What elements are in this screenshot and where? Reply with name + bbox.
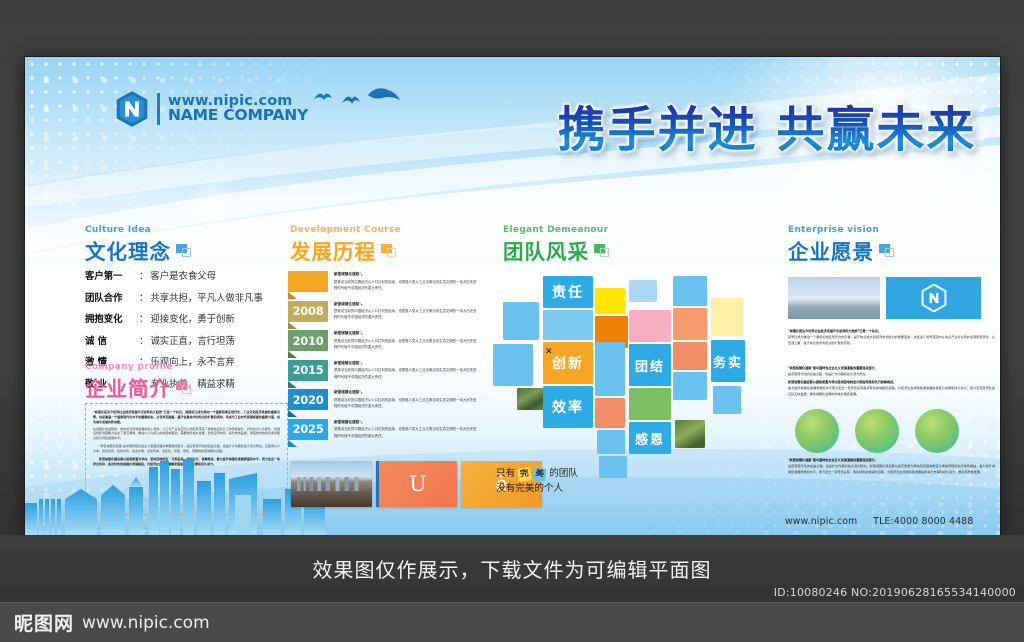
mosaic-word-tile: 效率 [543,386,593,428]
timeline-item[interactable]: 2025 .tl-item:nth-child(6) .tl-tab:after… [288,419,478,440]
mosaic-tile [673,372,707,400]
heading-square-icon [594,244,610,257]
heading-square-icon [176,381,192,394]
section-cn-vision-text: 企业愿景 [788,235,874,265]
heading-square-icon [381,244,397,257]
timeline-item[interactable]: 2010 .tl-item:nth-child(3) .tl-tab:after… [288,330,478,351]
mosaic-word-label: 创新 [552,353,584,373]
mosaic-tile [503,302,539,340]
team-heart-mosaic: 责任 创新 效率 团结 感恩 [503,276,779,481]
section-cn-team-text: 团队风采 [503,235,589,265]
mosaic-tile [595,342,625,396]
timeline-year-tab[interactable]: .tl-item:nth-child(1) .tl-tab:after{bord… [288,271,328,292]
list-item: 诚 信 ： 诚实正直，言行坦荡 [85,333,285,347]
section-heading-development: Development Course 发展历程 [290,225,401,265]
logo-divider [157,93,160,125]
culture-value: 客户是衣食父母 [150,268,216,282]
section-cn-culture-text: 文化理念 [85,235,171,265]
vision-circles [795,409,959,453]
mosaic-word-tile: 感恩 [629,422,671,454]
page-title: 携手并进 共赢未来 [537,99,997,161]
section-en-profile: Company profile [85,362,192,372]
timeline-body: 是推动当前的中国经济从人口红利的延续，也是推人类从工业文明迈向生态文明的一伟大历… [334,308,478,321]
section-cn-profile-text: 企业简介 [85,372,171,402]
section-cn-team: 团队风采 [503,235,610,265]
timeline-title: 新型城镇化道路"。 [334,302,478,307]
hexagon-n-logo-icon [115,90,149,128]
section-heading-profile: Company profile 企业简介 [85,362,192,402]
vision-paragraph-mid: 是实现现代化的必由之路，也是扩大内需的最大潜力所在。 [788,372,995,378]
timeline-year-tab[interactable]: 2015 .tl-item:nth-child(4) .tl-tab:after… [288,360,328,381]
team-caption-tile: 完 [517,467,532,482]
vision-circle [795,409,839,453]
team-photo-tile [675,420,705,448]
mosaic-tile [673,308,707,340]
logo-company-name: NAME COMPANY [168,108,308,124]
vision-circle [855,409,899,453]
timeline-body: 是推动当前的中国经济从人口红利的延续，也是推人类从工业文明迈向生态文明的一伟大历… [334,367,478,380]
city-skyline-silhouette-icon [25,443,325,535]
team-caption-pre: 只有 [496,467,515,482]
culture-separator: ： [139,311,148,325]
dot-pattern-top-left-icon [25,57,355,207]
timeline-title: 新型城镇化道路"。 [334,420,478,425]
asset-id-badge: ID:10080246 NO:20190628165534140000 [774,586,1016,599]
culture-separator: ： [139,268,148,282]
development-timeline: .tl-item:nth-child(1) .tl-tab:after{bord… [288,271,478,449]
timeline-year-tab[interactable]: 2020 .tl-item:nth-child(5) .tl-tab:after… [288,389,328,410]
mosaic-tile [711,298,743,336]
timeline-item[interactable]: .tl-item:nth-child(1) .tl-tab:after{bord… [288,271,478,292]
company-logo[interactable]: www.nipic.com NAME COMPANY [115,90,308,128]
footer-tel: TLE:4000 8000 4488 [873,516,973,527]
section-cn-profile: 企业简介 [85,372,192,402]
profile-paragraph: 在城镇化的进程中，城市成为区域发展的核心载体，人口与产业在空间上的集聚带来了规模… [93,427,280,442]
mosaic-tile [543,310,593,340]
culture-separator: ： [139,290,148,304]
culture-key: 诚 信 [85,333,137,347]
heading-square-icon [879,244,895,257]
mosaic-tile [673,342,707,370]
mosaic-tile [629,310,671,342]
vision-paragraph-top: 其早已成为推动一个国家和地区现代化的引擎，基于信息技术和经济成长能力的重要因素，… [788,335,995,346]
vision-paragraph-mid2-bold: 新型城镇化建设要以提高质量为导向坚持因地制宜分类指导规划先行统筹推进， [788,380,995,386]
flying-birds-icon [310,87,400,115]
section-heading-team: Elegant Demeanour 团队风采 [503,225,610,265]
team-caption-post: 的团队 [549,467,578,482]
list-item: 客户第一 ： 客户是衣食父母 [85,268,285,282]
timeline-item[interactable]: 2020 .tl-item:nth-child(5) .tl-tab:after… [288,389,478,410]
section-en-development: Development Course [290,225,401,235]
timeline-title: 新型城镇化道路"。 [334,361,478,366]
team-caption: 只有 完 美 的团队 没有完美的个人 [496,467,578,497]
timeline-year: 2025 [293,422,324,436]
lens-flare-decoration [183,180,243,240]
vision-paragraph-bottom-bold: "新型城镇化道路"是中国特色社会主义发展道路的重要组成部分， [788,458,995,464]
vision-circle [915,409,959,453]
culture-key: 拥抱变化 [85,311,137,325]
vision-logo-box[interactable] [886,277,981,319]
section-cn-vision: 企业愿景 [788,235,895,265]
mosaic-word-tile: 责任 [543,276,593,308]
watermark-site-name: 昵图网 [14,609,74,636]
mosaic-word-tile: 务实 [711,340,745,382]
section-cn-development-text: 发展历程 [290,235,376,265]
timeline-title: 新型城镇化道路"。 [334,331,478,336]
mosaic-tile [493,344,533,386]
culture-value: 诚实正直，言行坦荡 [150,333,234,347]
mosaic-tile [599,456,627,478]
mosaic-word-label: 责任 [552,282,584,302]
mosaic-tile [595,288,625,314]
section-en-vision: Enterprise vision [788,225,895,235]
timeline-item[interactable]: 2015 .tl-item:nth-child(4) .tl-tab:after… [288,360,478,381]
team-caption-tile: 美 [532,467,546,481]
mosaic-word-tile: 团结 [629,344,671,386]
mosaic-tile [597,430,625,454]
list-item: 拥抱变化 ： 迎接变化，勇于创新 [85,311,285,325]
timeline-item[interactable]: 2008 .tl-item:nth-child(2) .tl-tab:after… [288,301,478,322]
timeline-body: 是推动当前的中国经济从人口红利的延续，也是推人类从工业文明迈向生态文明的一伟大历… [334,426,478,439]
timeline-title: 新型城镇化道路"。 [334,390,478,395]
section-en-culture: Culture Idea [85,225,192,235]
watermark-site-url: www.nipic.com [82,613,210,633]
mosaic-word-label: 团结 [635,356,665,375]
letter-u-tile[interactable]: U [376,461,457,507]
section-cn-culture: 文化理念 [85,235,192,265]
timeline-body: 是推动当前的中国经济从人口红利的延续，也是推人类从工业文明迈向生态文明的一伟大历… [334,397,478,410]
preview-caption: 效果图仅作展示，下载文件为可编辑平面图 [313,554,712,583]
timeline-year-tab[interactable]: 2025 .tl-item:nth-child(6) .tl-tab:after… [288,419,328,440]
culture-key: 客户第一 [85,268,137,282]
section-en-team: Elegant Demeanour [503,225,610,235]
vision-images [788,277,981,319]
culture-value: 迎接变化，勇于创新 [150,311,234,325]
hexagon-n-logo-icon [917,284,951,312]
profile-paragraph: "城镇化是当今世界社会经济发展不可逆转的大趋势"已是一个共识。城镇化已成为推动一… [93,410,280,425]
timeline-year: 2020 [293,393,324,407]
cityscape-photo[interactable] [291,461,372,507]
timeline-title: 新型城镇化道路"。 [334,272,478,277]
heading-square-icon [176,244,192,257]
poster-board: www.nipic.com NAME COMPANY 携手并进 共赢未来 Cul… [25,57,1000,535]
vision-paragraph-bottom: 是实现现代化的必由之路，也是扩大内需的最大潜力所在。新型城镇化建设要以提高质量为… [788,464,995,475]
team-photo-tile [517,388,545,410]
mosaic-tile [629,388,671,420]
timeline-body: 是推动当前的中国经济从人口红利的延续，也是推人类从工业文明迈向生态文明的一伟大历… [334,279,478,292]
culture-separator: ： [139,333,148,347]
vision-paragraph-mid2: 着力提升城镇化发展质量和水平努力走出一条符合实际各具特色的城镇化道路，为经济社会… [788,386,995,397]
mosaic-tile [673,276,707,306]
section-heading-vision: Enterprise vision 企业愿景 [788,225,895,265]
mosaic-tile [629,280,657,302]
mosaic-word-label: 务实 [713,352,743,371]
team-caption-tiles: 完 美 [518,468,546,481]
mosaic-tile [595,398,625,428]
letter-u-glyph: U [409,472,427,496]
site-watermark-bar: 昵图网 www.nipic.com [0,602,1024,642]
mouse-cursor-icon: ✕ [545,346,553,357]
footer-url: www.nipic.com [785,516,857,527]
footer-contact: www.nipic.com TLE:4000 8000 4488 [785,516,974,527]
timeline-year: 2015 [293,363,324,377]
list-item: 团队合作 ： 共享共担，平凡人做非凡事 [85,290,285,304]
mosaic-tile [713,386,741,414]
timeline-year: 2008 [293,304,324,318]
section-heading-culture: Culture Idea 文化理念 [85,225,192,265]
mosaic-word-label: 效率 [552,397,584,417]
team-caption-line2: 没有完美的个人 [496,482,578,497]
timeline-year-tab[interactable]: 2010 .tl-item:nth-child(3) .tl-tab:after… [288,330,328,351]
section-cn-development: 发展历程 [290,235,401,265]
timeline-year: 2010 [293,334,324,348]
poster-stage: www.nipic.com NAME COMPANY 携手并进 共赢未来 Cul… [0,0,1024,600]
culture-key: 团队合作 [85,290,137,304]
sky-clouds-photo[interactable] [788,277,880,319]
mosaic-word-label: 感恩 [635,429,665,448]
vision-paragraph-top-bold: "城镇化是当今世界社会经济发展不可逆转的大趋势"已是一个共识。 [788,329,995,335]
culture-value: 共享共担，平凡人做非凡事 [150,290,263,304]
timeline-year-tab[interactable]: 2008 .tl-item:nth-child(2) .tl-tab:after… [288,301,328,322]
timeline-body: 是推动当前的中国经济从人口红利的延续，也是推人类从工业文明迈向生态文明的一伟大历… [334,338,478,351]
vision-paragraph-mid-bold: "新型城镇化道路"是中国特色社会主义发展道路的重要组成部分， [788,366,995,372]
